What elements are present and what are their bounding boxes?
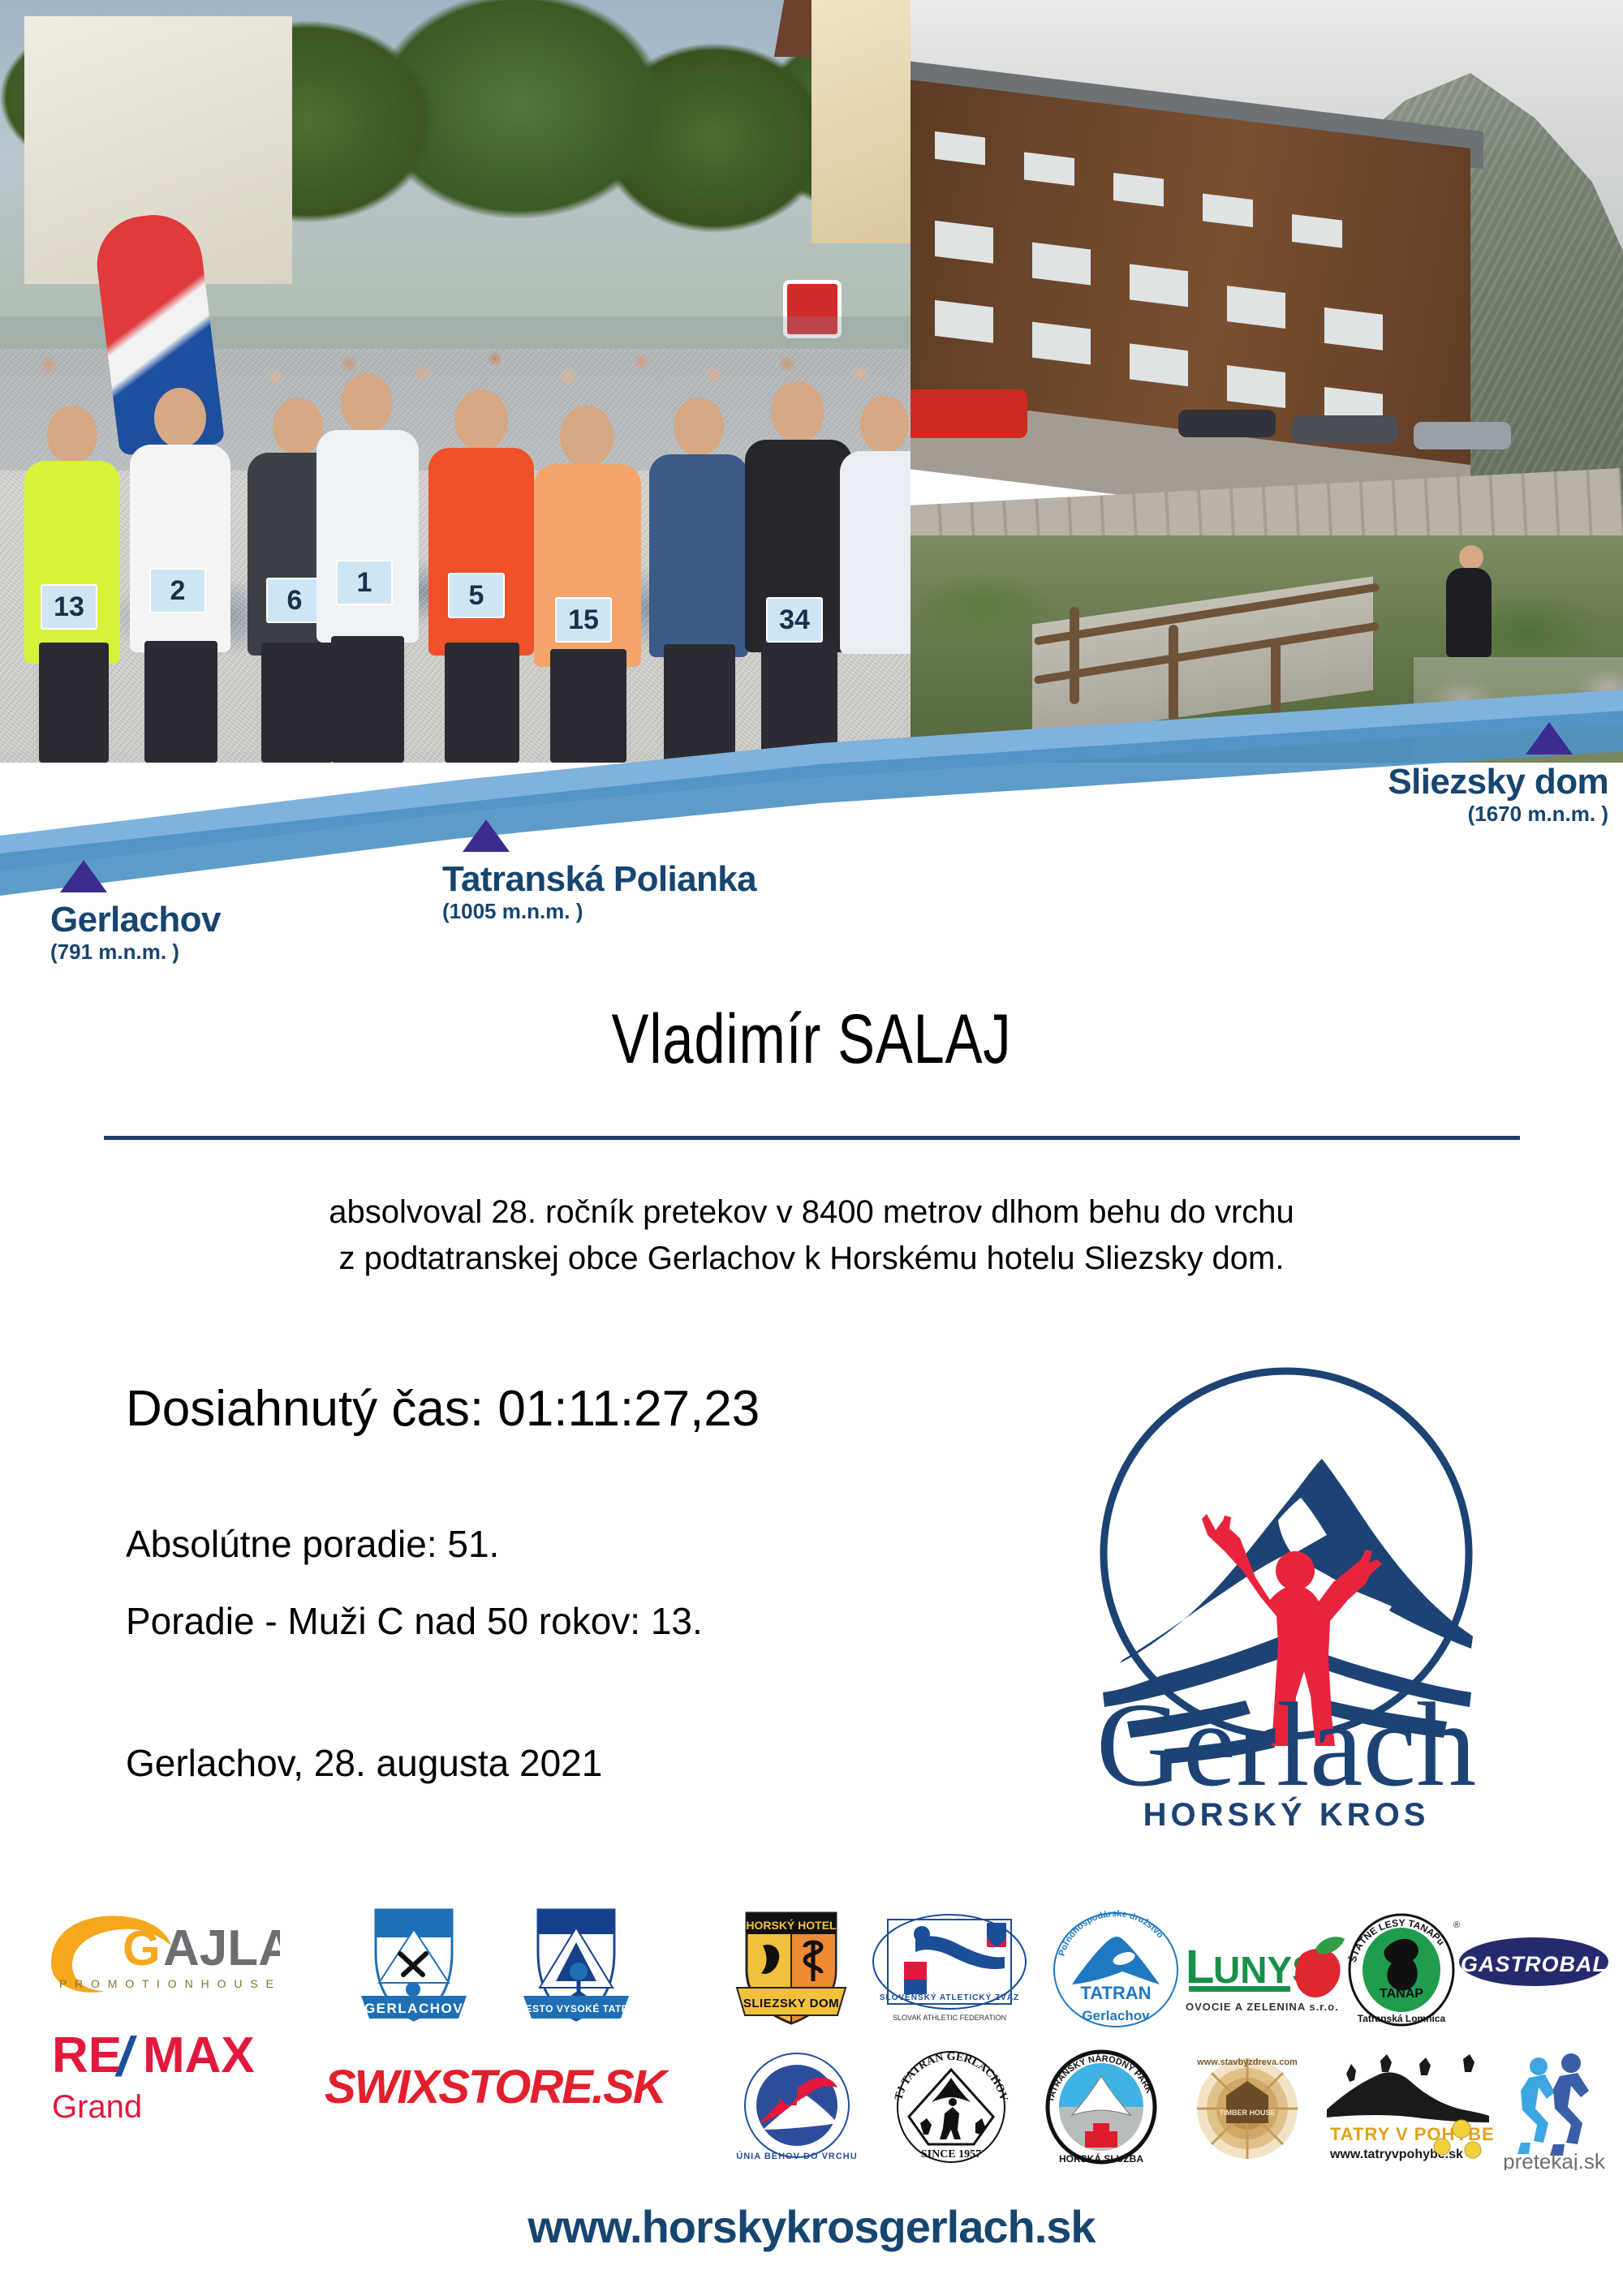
hotel-window <box>1292 214 1342 248</box>
svg-text:G: G <box>123 1921 161 1976</box>
elevation-point-gerlachov: Gerlachov (791 m.n.m. ) <box>50 902 221 965</box>
hotel-window <box>935 300 993 343</box>
sponsor-name: GASTROBAL <box>1461 1952 1607 1976</box>
elevation-point-altitude: (791 m.n.m. ) <box>50 939 221 965</box>
runner-body <box>840 451 911 654</box>
elevation-point-altitude: (1670 m.n.m. ) <box>1388 801 1608 828</box>
parked-car <box>1178 410 1276 437</box>
sponsor-slovensky-atleticky-zvaz[interactable]: SLOVENSKÝ ATLETICKÝ ZVÄZ SLOVAK ATHLETIC… <box>868 1910 1031 2032</box>
sponsor-city: Gerlachov <box>1082 2008 1150 2023</box>
hotel-window <box>1324 307 1383 350</box>
runner-bib: 15 <box>555 597 612 643</box>
sponsor-name: pretekaj.sk <box>1503 2149 1606 2170</box>
building-right <box>811 0 911 243</box>
hotel-window <box>1130 264 1188 307</box>
sponsor-remax[interactable]: RE / MAX Grand <box>47 2022 282 2127</box>
sponsor-swixstore[interactable]: SWIXSTORE.SK <box>316 2053 682 2126</box>
sponsor-name: SWIXSTORE.SK <box>325 2061 670 2113</box>
svg-text:RE: RE <box>52 2027 122 2083</box>
sponsor-gastrobal[interactable]: GASTROBAL <box>1457 1928 1611 2001</box>
ribbon-band-dark <box>0 711 1623 896</box>
parked-car <box>1414 422 1511 449</box>
runner-head <box>454 389 508 451</box>
athlete-name: Vladimír SALAJ <box>162 1004 1461 1074</box>
runner-bib: 34 <box>766 597 823 643</box>
uphill-runner <box>1446 568 1492 657</box>
runner-head <box>273 398 323 456</box>
peak-marker-icon <box>60 860 107 892</box>
sponsor-tatran-gerlachov[interactable]: TATRAN Poľnohospodárske družstvo Gerlach… <box>1043 1910 1189 2032</box>
runner-head <box>860 396 909 453</box>
runner-bib: 13 <box>41 584 97 630</box>
hotel-window <box>935 131 985 166</box>
category-rank: Poradie - Muži C nad 50 rokov: 13. <box>126 1602 703 1640</box>
website-url[interactable]: www.horskykrosgerlach.sk <box>0 2200 1623 2253</box>
runner-body <box>428 448 534 656</box>
elevation-point-altitude: (1005 m.n.m. ) <box>442 898 756 925</box>
hotel-window <box>1203 193 1253 227</box>
runner-head <box>154 388 206 448</box>
sponsor-lesy-tanapu[interactable]: TANAP ŠTÁTNE LESY TANAPu Tatranská Lomni… <box>1335 1910 1469 2032</box>
runner-bib: 6 <box>266 578 323 623</box>
description-line-1: absolvoval 28. ročník pretekov v 8400 me… <box>0 1189 1623 1236</box>
hotel-window <box>1130 343 1188 386</box>
svg-text:L: L <box>1186 1941 1214 1993</box>
elevation-point-name: Sliezsky dom <box>1388 764 1608 801</box>
sponsor-strip: G AJLA P R O M O T I O N H O U S E RE / … <box>0 1898 1623 2223</box>
svg-text:AJLA: AJLA <box>163 1920 280 1976</box>
parked-car <box>1292 415 1397 443</box>
sponsor-tatry-v-pohybe[interactable]: TATRY V POHYBE www.tatryvpohybe.sk <box>1319 2053 1493 2166</box>
place-and-date: Gerlachov, 28. augusta 2021 <box>126 1744 602 1782</box>
sponsor-name: TATRAN <box>1080 1983 1151 2003</box>
sponsor-tagline: TIMBER HOUSE <box>1219 2109 1275 2117</box>
runner-head <box>674 398 724 456</box>
runner-body <box>316 430 419 643</box>
elevation-point-sliezsky-dom: Sliezsky dom (1670 m.n.m. ) <box>1388 764 1608 827</box>
photo-banner: 13 2 6 1 5 15 34 <box>0 0 1623 763</box>
sponsor-initials: TANAP <box>1380 1987 1423 2001</box>
elevation-point-name: Gerlachov <box>50 902 221 939</box>
sponsor-name: MESTO VYSOKÉ TATRY <box>517 2002 635 2014</box>
sponsor-tagline: P R O M O T I O N H O U S E <box>59 1977 276 1990</box>
logo-subtitle: HORSKÝ KROS <box>1143 1795 1430 1833</box>
runner-bib: 5 <box>448 573 505 618</box>
sponsor-tagline: SLOVAK ATHLETIC FEDERATION <box>893 2014 1006 2022</box>
svg-text:/: / <box>114 2026 137 2087</box>
runner-body <box>649 454 748 657</box>
runner-head <box>341 373 393 433</box>
sponsor-horska-sluzba[interactable]: TATRANSKÝ NÁRODNÝ PARK HORSKÁ SLUŽBA <box>1035 2049 1169 2170</box>
uphill-runner-head <box>1459 545 1483 570</box>
runner-bib: 2 <box>149 568 206 613</box>
hotel-window <box>1227 365 1285 408</box>
rescue-vehicle <box>911 389 1027 438</box>
sponsor-tagline: Tatranská Lomnica <box>1358 2013 1446 2024</box>
sponsor-name: ÚNIA BEHOV DO VRCHU <box>736 2151 857 2161</box>
description-block: absolvoval 28. ročník pretekov v 8400 me… <box>0 1189 1623 1282</box>
sponsor-tagline: HORSKÝ HOTEL <box>746 1918 837 1932</box>
hotel-window <box>1227 286 1285 329</box>
sponsor-tagline: OVOCIE A ZELENINA s.r.o. <box>1186 2001 1339 2013</box>
finish-time: Dosiahnutý čas: 01:11:27,23 <box>126 1384 760 1434</box>
overall-rank: Absolútne poradie: 51. <box>126 1525 499 1563</box>
runner-head <box>771 381 824 443</box>
hotel-window <box>1032 243 1091 286</box>
runner-body <box>130 445 230 652</box>
runner-head <box>47 406 97 464</box>
sponsor-tj-tatran-gerlachov[interactable]: TJ TATRAN GERLACHOV SINCE 1957 <box>885 2049 1018 2170</box>
elevation-point-tatranska-polianka: Tatranská Polianka (1005 m.n.m. ) <box>442 862 756 924</box>
sponsor-tagline: Grand <box>52 2089 142 2125</box>
runner-body <box>24 461 120 664</box>
description-line-2: z podtatranskej obce Gerlachov k Horském… <box>0 1236 1623 1282</box>
peak-marker-icon <box>1526 722 1573 755</box>
sponsor-vysoke-tatry-crest[interactable]: MESTO VYSOKÉ TATRY <box>499 1905 653 2035</box>
event-logo: Gerlach HORSKÝ KROS <box>1043 1347 1530 1842</box>
sponsor-gerlachov-crest[interactable]: GERLACHOV <box>337 1905 491 2035</box>
sponsor-tagline: SINCE 1957 <box>921 2148 981 2161</box>
logo-wordmark: Gerlach <box>1096 1679 1476 1812</box>
hotel-window <box>1024 152 1074 186</box>
sponsor-name: GERLACHOV <box>364 2001 463 2016</box>
peak-marker-icon <box>463 819 510 852</box>
hotel-window <box>935 221 993 264</box>
sponsor-gajla[interactable]: G AJLA P R O M O T I O N H O U S E <box>45 1907 280 2004</box>
sponsor-sliezsky-dom[interactable]: HORSKÝ HOTEL SLIEZSKY DOM <box>722 1907 860 2036</box>
sponsor-stavbyzdreva[interactable]: TIMBER HOUSE www.stavbyzdreva.com <box>1181 2049 1315 2170</box>
hotel-window <box>1032 322 1091 365</box>
sponsor-name: SLOVENSKÝ ATLETICKÝ ZVÄZ <box>880 1992 1019 2002</box>
elevation-ribbon: Gerlachov (791 m.n.m. ) Tatranská Polian… <box>0 673 1623 917</box>
svg-text:MAX: MAX <box>143 2027 255 2083</box>
runner-bib: 1 <box>336 560 393 605</box>
photo-race-start: 13 2 6 1 5 15 34 <box>0 0 911 763</box>
photo-sliezsky-dom <box>911 0 1623 763</box>
sponsor-name: www.stavbyzdreva.com <box>1196 2057 1298 2067</box>
sponsor-tagline: HORSKÁ SLUŽBA <box>1059 2152 1143 2165</box>
hotel-window <box>1113 173 1164 207</box>
runner-head <box>560 406 613 467</box>
sponsor-unia-behov[interactable]: ÚNIA BEHOV DO VRCHU <box>730 2049 864 2170</box>
sponsor-pretekaj[interactable]: pretekaj.sk <box>1493 2049 1615 2170</box>
elevation-point-name: Tatranská Polianka <box>442 862 756 898</box>
title-divider <box>104 1136 1520 1140</box>
sponsor-lunys[interactable]: L UNYS OVOCIE A ZELENINA s.r.o. <box>1181 1920 1355 2025</box>
sponsor-name: SLIEZSKY DOM <box>743 1997 839 2010</box>
